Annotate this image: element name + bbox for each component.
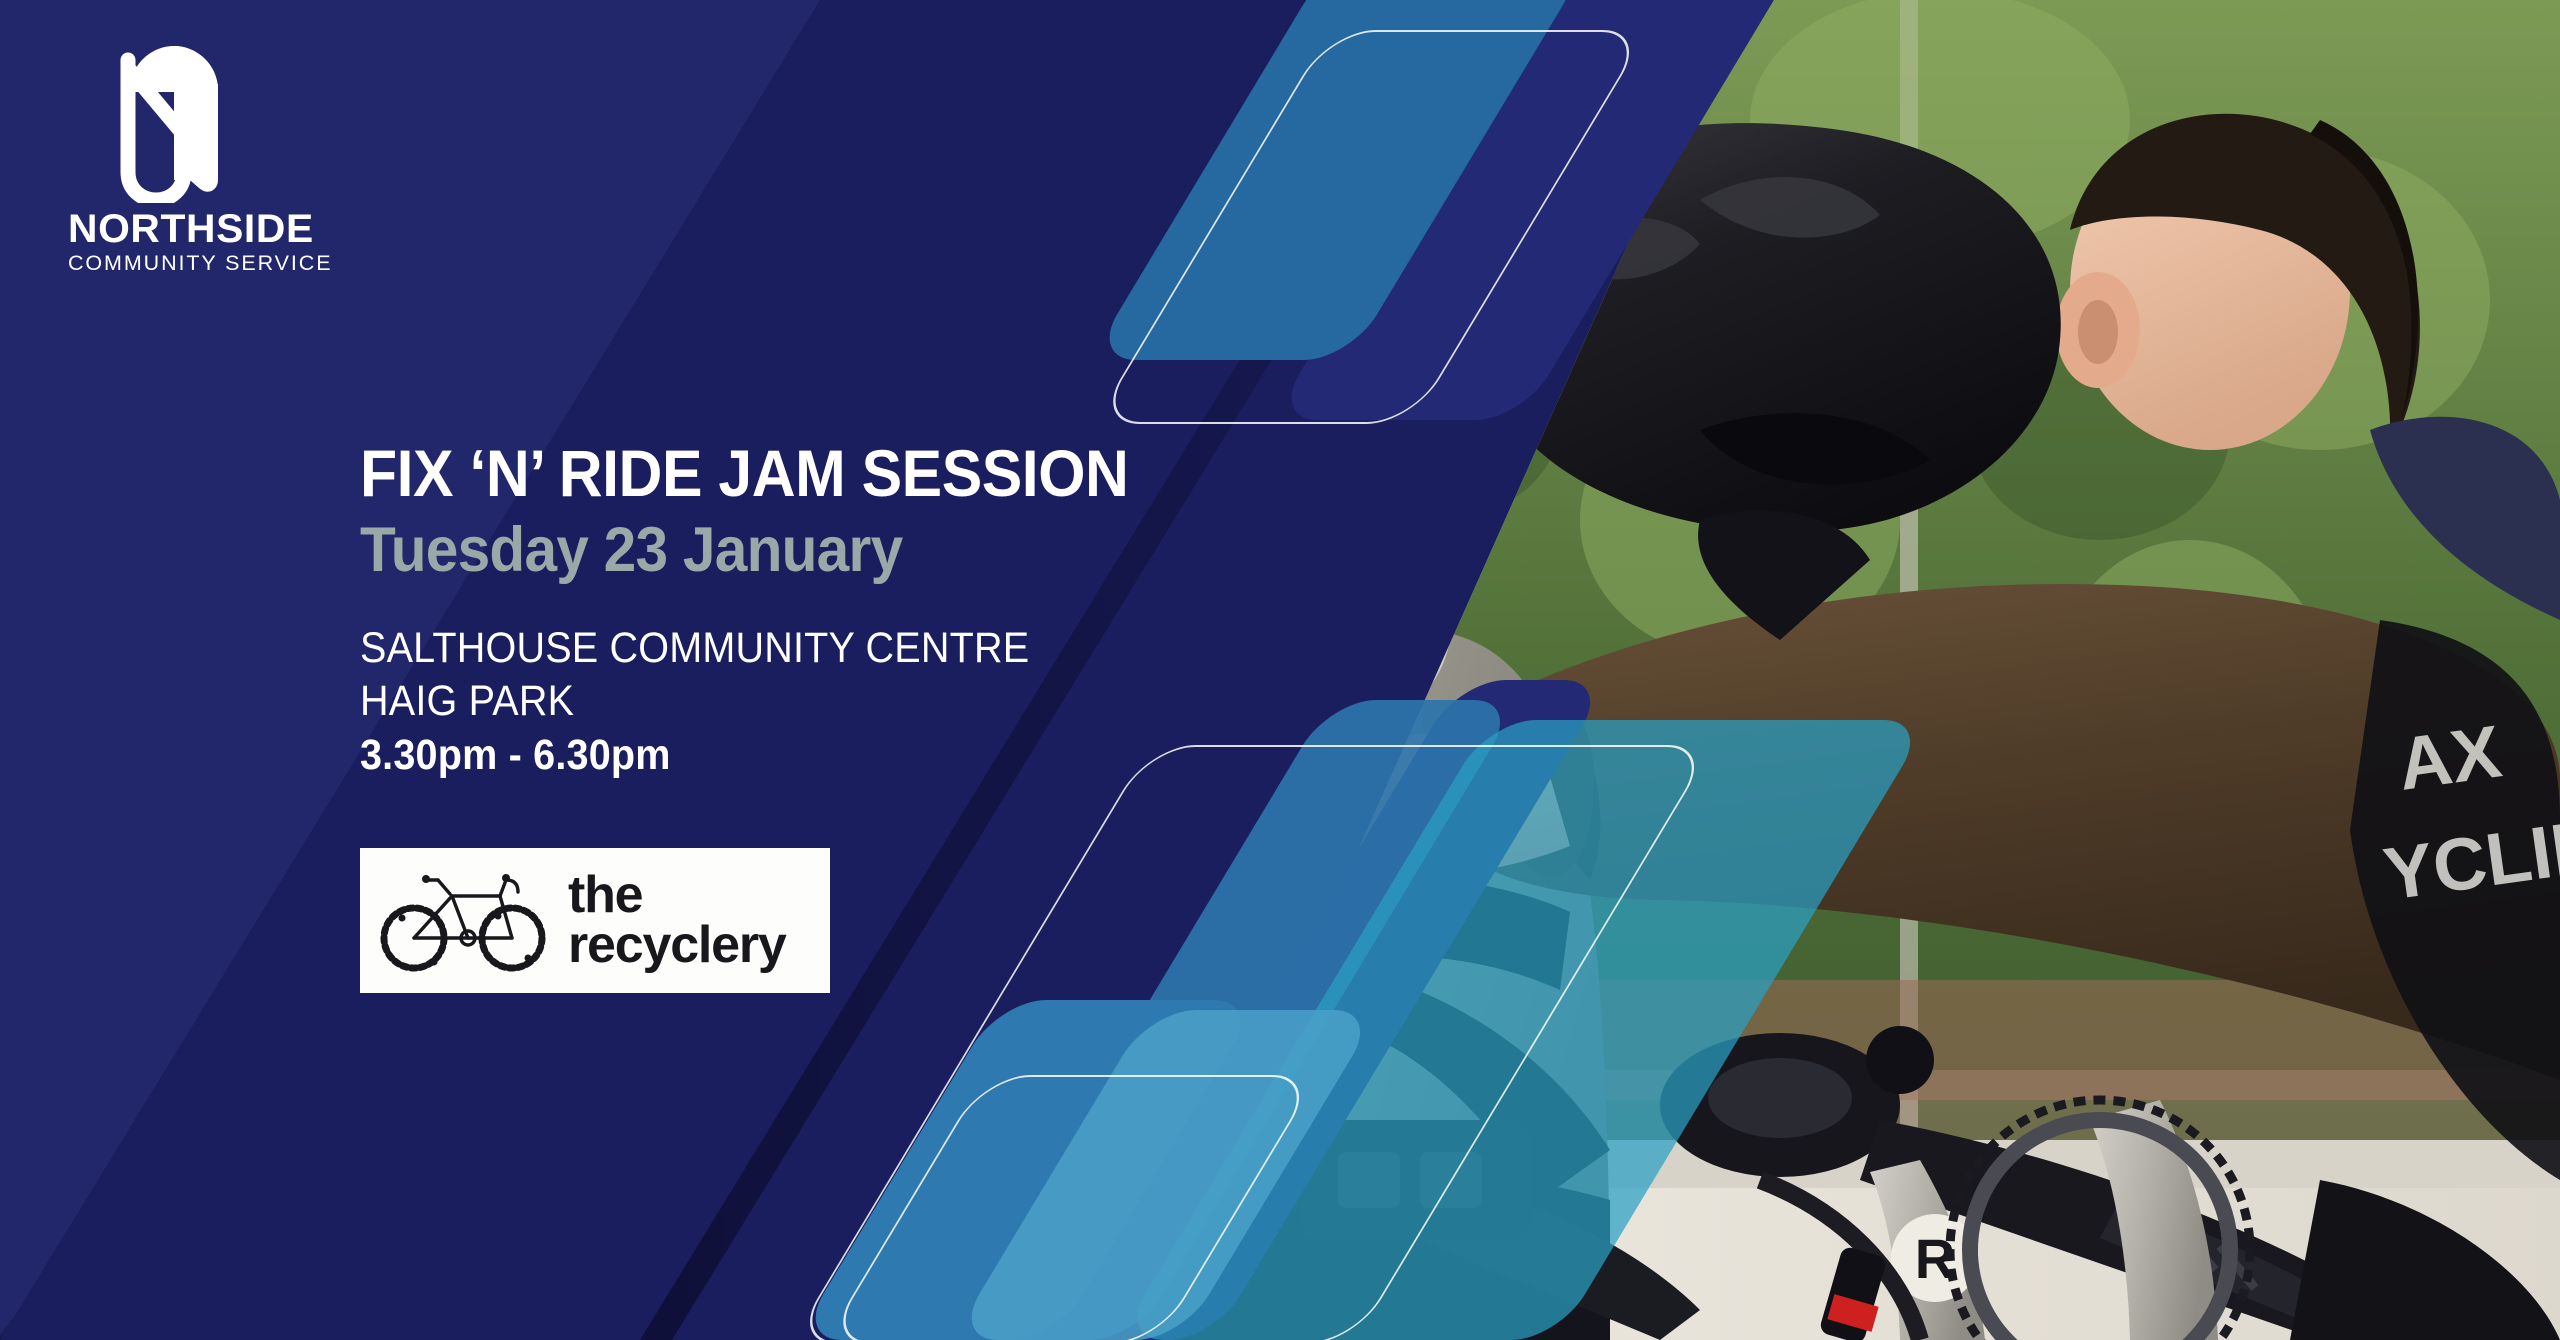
partner-name: the recyclery [568,871,786,971]
partner-logo: the recyclery [360,848,830,993]
event-time: 3.30pm - 6.30pm [360,729,1128,781]
brand-tagline: COMMUNITY SERVICE [68,251,368,277]
brand-name: NORTHSIDE [68,209,374,249]
event-details: FIX ‘N’ RIDE JAM SESSION Tuesday 23 Janu… [360,440,1195,782]
event-date: Tuesday 23 January [360,518,1137,582]
event-banner: R AX [0,0,2560,1340]
event-venue: SALTHOUSE COMMUNITY CENTRE HAIG PARK 3.3… [360,622,1128,781]
northside-n-monogram-icon [98,38,246,203]
event-title: FIX ‘N’ RIDE JAM SESSION [360,440,1128,506]
svg-text:AX: AX [2393,709,2506,806]
brand-wordmark: NORTHSIDE COMMUNITY SERVICE [68,209,368,277]
partner-name-line-2: recyclery [568,921,786,971]
venue-line-2: HAIG PARK [360,675,1128,727]
brand-logo: NORTHSIDE COMMUNITY SERVICE [68,38,368,277]
partner-name-line-1: the [568,871,786,921]
bicycle-icon [372,866,562,976]
venue-line-1: SALTHOUSE COMMUNITY CENTRE [360,622,1128,674]
content-column: NORTHSIDE COMMUNITY SERVICE FIX ‘N’ RIDE… [0,0,1300,1340]
